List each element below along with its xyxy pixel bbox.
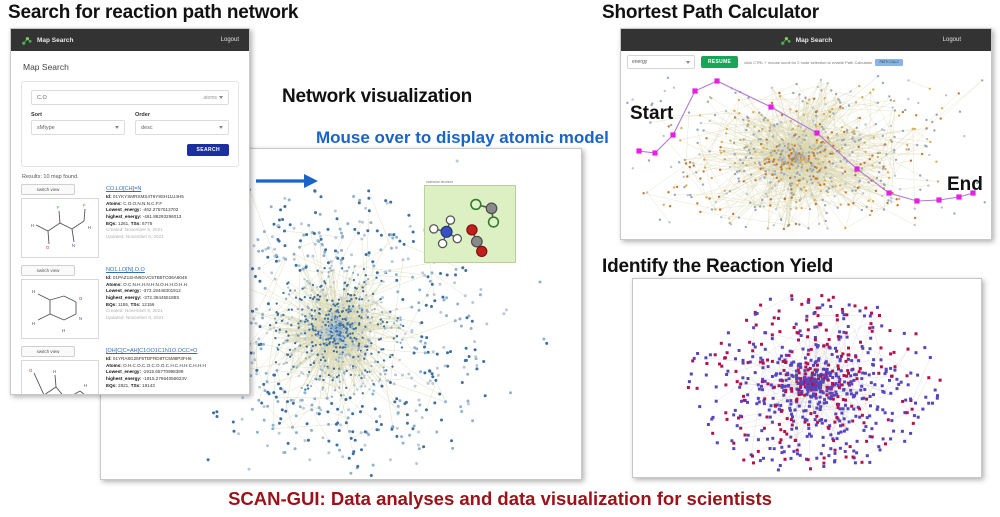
switch-view-button[interactable]: switch view: [21, 265, 75, 276]
navbar-title: Map Search: [796, 37, 833, 44]
eqs-label: EQs:: [106, 221, 117, 226]
sort-label: Sort: [31, 112, 125, 118]
chevron-down-icon: [219, 126, 223, 129]
metric-value: energy: [632, 59, 647, 65]
svg-text:N: N: [79, 316, 82, 321]
chevron-down-icon: [219, 96, 223, 99]
svg-text:H: H: [84, 383, 87, 388]
search-navbar: Map Search Logout: [11, 29, 249, 51]
search-form[interactable]: C.O atoms Sort sMtype Or: [21, 81, 239, 167]
molecule-logo-icon: [780, 35, 791, 46]
highest-energy-value: -1915.27664056623V: [143, 376, 187, 381]
svg-text:O: O: [46, 245, 50, 250]
result-counts: EQs: 1155, TSs: 12156: [106, 302, 239, 309]
svg-text:H: H: [88, 225, 91, 230]
result-atoms: Atoms: O.H.C.O.C.O.C.O.O.C.H.C.H.H.C.H.H…: [106, 363, 239, 370]
atoms-label: Atoms:: [106, 363, 122, 368]
path-calc-badge[interactable]: PATH CALC: [875, 59, 903, 66]
result-created: Created: November 8, 2021: [106, 227, 239, 234]
search-button[interactable]: SEARCH: [187, 144, 229, 156]
atoms-value: O.C.N.H.H.N.H.N.O.H.H.O.H.H: [123, 282, 187, 287]
heading-shortest-path: Shortest Path Calculator: [602, 2, 819, 24]
result-counts: EQs: 1261, TSs: 6776: [106, 221, 239, 228]
query-suffix-label: atoms: [203, 95, 217, 101]
svg-text:F: F: [83, 203, 86, 208]
result-id: Id: 01PAZ1SHN6GVC5TB5TO36A6045: [106, 275, 239, 282]
tss-value: 6776: [142, 221, 152, 226]
molecule-thumbnail[interactable]: H O F N F H: [21, 198, 99, 258]
map-search-window[interactable]: Map Search Logout Map Search C.O atoms S…: [10, 28, 250, 395]
results-count: Results: 10 map found.: [22, 174, 239, 180]
result-id: Id: 01YRA8G25F6TDFRD8TC5M8P3FH6: [106, 356, 239, 363]
lowest-energy-value: -373.19448301912: [142, 288, 181, 293]
query-value: C.O: [37, 95, 47, 101]
order-label: Order: [135, 112, 229, 118]
result-highest-energy: highest_energy: -372.394455188S: [106, 295, 239, 302]
end-label: End: [947, 174, 983, 196]
lowest-energy-label: Lowest_energy:: [106, 288, 141, 293]
sort-order-row: Sort sMtype Order desc: [31, 112, 229, 135]
search-panel-body: Map Search C.O atoms Sort sMtype: [11, 51, 249, 395]
tooltip-caption: molecular structure: [424, 180, 516, 184]
eqs-label: EQs:: [106, 383, 117, 388]
page-title: Map Search: [23, 62, 239, 72]
heading-search: Search for reaction path network: [8, 2, 298, 24]
result-atoms: Atoms: C.O.O.N.N.N.C.F.F: [106, 201, 239, 208]
path-toolbar: energy RESUME click CTRL + mouse scroll …: [621, 51, 991, 73]
molecule-2d-icon: H O F N F H: [22, 199, 98, 257]
svg-text:H: H: [31, 223, 34, 228]
path-graph-canvas[interactable]: [621, 73, 991, 231]
molecule-logo-icon: [21, 35, 32, 46]
eqs-value: 1155,: [118, 302, 129, 307]
eqs-label: EQs:: [106, 302, 117, 307]
svg-text:H: H: [32, 289, 35, 294]
lowest-energy-value: -462.2757612702: [142, 207, 178, 212]
path-graph[interactable]: [621, 73, 991, 231]
figure-caption: SCAN-GUI: Data analyses and data visuali…: [0, 488, 1000, 510]
order-select[interactable]: desc: [135, 120, 229, 135]
id-value: 01PAZ1SHN6GVC5TB5TO36A6045: [113, 275, 187, 280]
sort-group: Sort sMtype: [31, 112, 125, 135]
result-details: CO.LO[CH]=N Id: 01YKYSMRSMS4T6Y8SH11U4H5…: [106, 184, 239, 258]
id-value: 01YRA8G25F6TDFRD8TC5M8P3FH6: [113, 356, 192, 361]
path-hint: click CTRL + mouse scroll for 2 node sel…: [744, 59, 903, 66]
svg-text:O: O: [29, 368, 33, 373]
result-updated: Updated: November 8, 2021: [106, 234, 239, 241]
order-value: desc: [141, 125, 153, 131]
result-created: Created: November 8, 2021: [106, 308, 239, 315]
eqs-value: 2821,: [118, 383, 130, 388]
id-label: Id:: [106, 194, 112, 199]
result-lowest-energy: Lowest_energy: -373.19448301912: [106, 288, 239, 295]
result-link[interactable]: CO.LO[CH]=N: [106, 186, 239, 193]
molecule-thumbnail[interactable]: H H O N H: [21, 279, 99, 339]
atoms-value: O.H.C.O.C.O.C.O.O.C.H.C.H.H.C.H.H.H: [123, 363, 206, 368]
result-highest-energy: highest_energy: -1915.27664056623V: [106, 376, 239, 383]
logout-link[interactable]: Logout: [943, 37, 961, 43]
atoms-value: C.O.O.N.N.N.C.F.F: [123, 201, 162, 206]
result-lowest-energy: Lowest_energy: -1915.65770998399: [106, 369, 239, 376]
lowest-energy-label: Lowest_energy:: [106, 207, 141, 212]
sort-select[interactable]: sMtype: [31, 120, 125, 135]
result-thumbnail-group: switch view O H H H H: [21, 346, 99, 395]
tss-value: 12156: [142, 302, 155, 307]
svg-text:N: N: [72, 243, 75, 248]
result-link[interactable]: NO1.LO[N].O.O: [106, 267, 239, 274]
switch-view-button[interactable]: switch view: [21, 184, 75, 195]
id-value: 01YKYSMRSMS4T6Y8SH11U4H5: [113, 194, 184, 199]
sort-caret: [115, 126, 119, 129]
reaction-yield-panel[interactable]: [632, 278, 982, 478]
molecule-3d-icon: [425, 186, 515, 262]
annotation-arrow-icon: [256, 170, 318, 192]
result-thumbnail-group: switch view H H O N H: [21, 265, 99, 339]
navbar-brand[interactable]: Map Search: [21, 35, 74, 46]
yield-scatter-graph[interactable]: [633, 279, 981, 477]
svg-text:H: H: [32, 321, 35, 326]
path-navbar: Map Search Logout: [621, 29, 991, 51]
tss-value: 18143: [142, 383, 155, 388]
lowest-energy-label: Lowest_energy:: [106, 369, 141, 374]
tss-label: TSs:: [131, 383, 141, 388]
atoms-label: Atoms:: [106, 201, 122, 206]
result-lowest-energy: Lowest_energy: -462.2757612702: [106, 207, 239, 214]
resume-button[interactable]: RESUME: [701, 56, 738, 68]
eqs-value: 1261,: [118, 221, 130, 226]
result-atoms: Atoms: O.C.N.H.H.N.H.N.O.H.H.O.H.H: [106, 282, 239, 289]
result-id: Id: 01YKYSMRSMS4T6Y8SH11U4H5: [106, 194, 239, 201]
start-label: Start: [630, 103, 673, 125]
sort-value: sMtype: [37, 125, 55, 131]
result-thumbnail-group: switch view H O F N F H: [21, 184, 99, 258]
highest-energy-label: highest_energy:: [106, 295, 141, 300]
id-label: Id:: [106, 275, 112, 280]
heading-network: Network visualization: [282, 86, 472, 108]
query-suffix[interactable]: atoms: [203, 95, 223, 101]
highest-energy-value: -372.394455188S: [143, 295, 180, 300]
tooltip-molecule-view: [424, 185, 516, 263]
list-item[interactable]: switch view H O F N F H: [21, 184, 239, 258]
highest-energy-label: highest_energy:: [106, 214, 141, 219]
id-label: Id:: [106, 356, 112, 361]
chevron-down-icon: [686, 61, 690, 64]
atomic-model-tooltip: molecular structure: [424, 180, 516, 263]
metric-select[interactable]: energy: [627, 55, 695, 69]
svg-text:O: O: [79, 296, 83, 301]
order-caret: [219, 126, 223, 129]
switch-view-button[interactable]: switch view: [21, 346, 75, 357]
result-details: NO1.LO[N].O.O Id: 01PAZ1SHN6GVC5TB5TO36A…: [106, 265, 239, 339]
lowest-energy-value: -1915.65770998399: [142, 369, 183, 374]
molecule-2d-icon: O H H H H: [22, 361, 98, 395]
highest-energy-label: highest_energy:: [106, 376, 141, 381]
chevron-down-icon: [115, 126, 119, 129]
heading-yield: Identify the Reaction Yield: [602, 256, 833, 278]
query-input[interactable]: C.O atoms: [31, 90, 229, 105]
path-hint-text: click CTRL + mouse scroll for 2 node sel…: [744, 60, 872, 65]
logout-link[interactable]: Logout: [221, 37, 239, 43]
result-updated: Updated: November 8, 2021: [106, 315, 239, 322]
list-item[interactable]: switch view H H O N H: [21, 265, 239, 339]
svg-text:F: F: [57, 205, 60, 210]
order-group: Order desc: [135, 112, 229, 135]
highest-energy-value: -461.88293296013: [143, 214, 182, 219]
navbar-title: Map Search: [37, 37, 74, 44]
navbar-brand[interactable]: Map Search: [780, 35, 833, 46]
result-counts: EQs: 2821, TSs: 18143: [106, 383, 239, 390]
result-details: [OH]C[C=AH]C1OO1C1N1O.OCC=O Id: 01YRA8G2…: [106, 346, 239, 395]
result-link[interactable]: [OH]C[C=AH]C1OO1C1N1O.OCC=O: [106, 348, 239, 355]
search-button-row: SEARCH: [31, 144, 229, 156]
svg-text:H: H: [53, 369, 56, 374]
atoms-label: Atoms:: [106, 282, 122, 287]
tss-label: TSs:: [130, 302, 140, 307]
tss-label: TSs:: [131, 221, 141, 226]
svg-text:H: H: [62, 328, 65, 333]
result-highest-energy: highest_energy: -461.88293296013: [106, 214, 239, 221]
molecule-2d-icon: H H O N H: [22, 280, 98, 338]
molecule-thumbnail[interactable]: O H H H H: [21, 360, 99, 395]
shortest-path-window[interactable]: Map Search Logout energy RESUME click CT…: [620, 28, 992, 240]
list-item[interactable]: switch view O H H H H: [21, 346, 239, 395]
annotation-mouse-over: Mouse over to display atomic model: [316, 128, 609, 147]
